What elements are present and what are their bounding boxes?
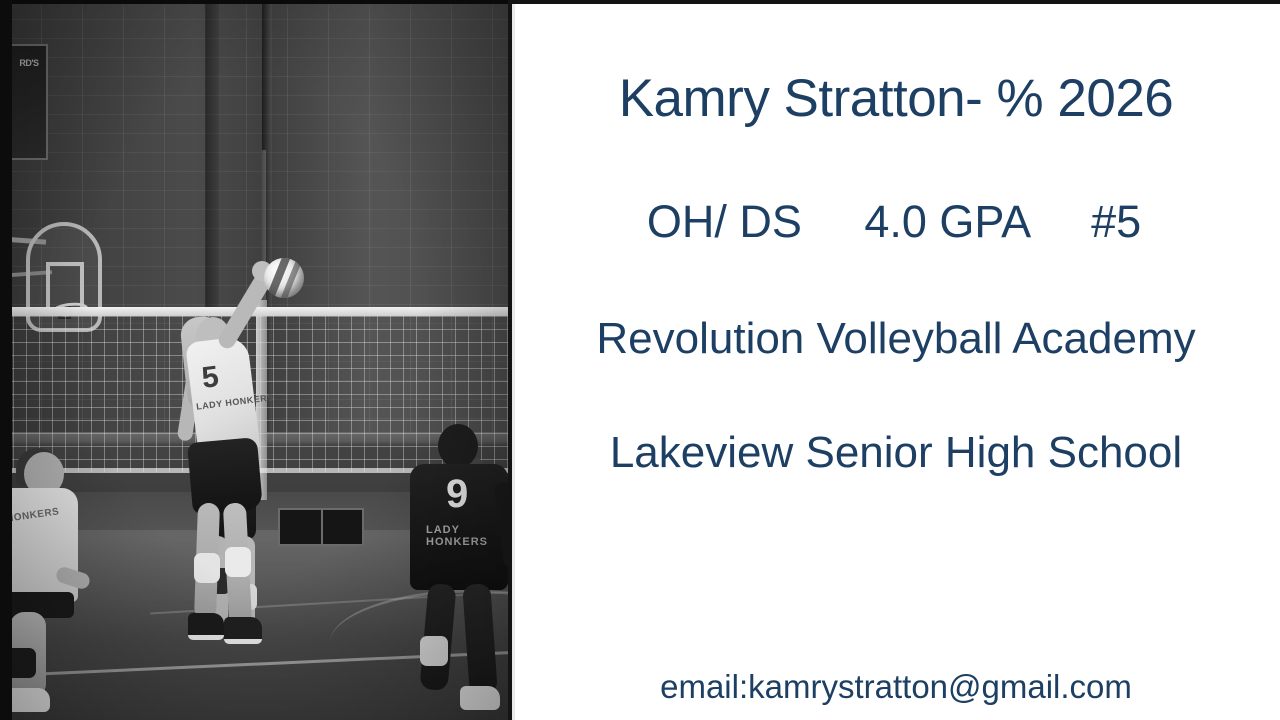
photo-top-letterbox	[0, 0, 512, 4]
hitter-kneepad-left	[194, 553, 220, 583]
photo-stage: RD'S	[0, 0, 512, 720]
club-team-name: Revolution Volleyball Academy	[512, 314, 1280, 364]
recruiting-slide: RD'S	[0, 0, 1280, 720]
hitter-player: 5 LADY HONKERS	[178, 265, 298, 665]
defender-kneepad-left	[420, 636, 448, 666]
defender-head	[438, 424, 478, 468]
hitter-shoe-right	[224, 617, 262, 644]
high-school-name: Lakeview Senior High School	[512, 428, 1280, 478]
gym-banner-text: RD'S	[12, 58, 46, 68]
defender-leg-right	[462, 583, 498, 695]
defender-player-9: 9 LADY HONKERS	[404, 424, 512, 720]
player-info-panel: Kamry Stratton- % 2026 OH/ DS 4.0 GPA #5…	[512, 0, 1280, 720]
contact-email: email:kamrystratton@gmail.com	[512, 668, 1280, 706]
defender-shoe-right	[460, 686, 500, 710]
volleyball-photo: RD'S	[0, 0, 512, 720]
hitter-kneepad-right	[225, 547, 251, 577]
player-position-gpa-number: OH/ DS 4.0 GPA #5	[512, 196, 1276, 248]
volleyball-icon	[264, 258, 304, 298]
photo-left-letterbox	[0, 0, 12, 720]
panel-top-strip	[512, 0, 1280, 4]
defender-jersey-number: 9	[446, 472, 468, 517]
foreground-player: HONKERS	[0, 452, 110, 720]
hitter-shoe-left	[188, 613, 224, 640]
gym-banner: RD'S	[8, 44, 48, 160]
player-name-heading: Kamry Stratton- % 2026	[512, 68, 1280, 129]
hitter-shorts	[187, 437, 263, 515]
